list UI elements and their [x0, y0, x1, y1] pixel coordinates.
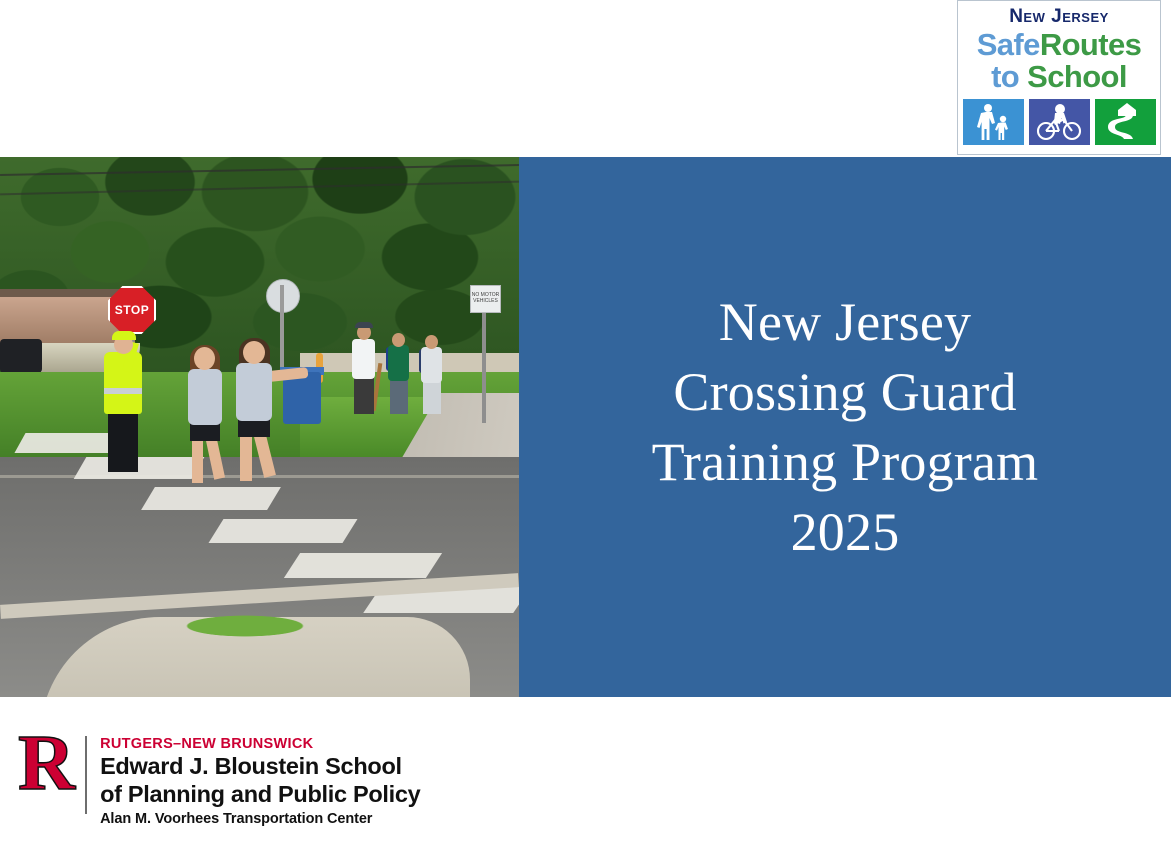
- crossing-guard-photo: NO MOTOR VEHICLES STOP: [0, 157, 519, 697]
- photo-guard-legs: [108, 412, 138, 472]
- photo-walker-2-body: [388, 345, 409, 381]
- logo-word-to: to: [991, 59, 1019, 94]
- content-band: NO MOTOR VEHICLES STOP: [0, 157, 1171, 697]
- rutgers-monogram: R: [18, 730, 73, 798]
- photo-walker-1-cap: [355, 322, 373, 328]
- page-title: New Jersey Crossing Guard Training Progr…: [626, 287, 1065, 568]
- crosswalk-stripe: [284, 553, 442, 578]
- photo-parked-vehicle: [0, 339, 42, 373]
- crosswalk-stripe: [74, 457, 205, 479]
- title-line-3: Training Program: [652, 432, 1039, 492]
- rutgers-wordmark: RUTGERS–NEW BRUNSWICK Edward J. Bloustei…: [100, 730, 420, 829]
- photo-student-2-leg-front: [240, 435, 252, 481]
- photo-walker-1-legs: [354, 378, 374, 414]
- logo-wordmark: SafeRoutes to School: [977, 29, 1142, 92]
- photo-walker-2-legs: [390, 380, 408, 414]
- photo-student-2-head: [243, 341, 265, 364]
- photo-walker-2-head: [392, 333, 405, 347]
- school-route-icon: [1095, 99, 1156, 145]
- title-line-1: New Jersey: [719, 292, 971, 352]
- rutgers-divider: [85, 736, 87, 814]
- no-motor-vehicles-label: NO MOTOR VEHICLES: [471, 293, 500, 305]
- rutgers-school-line-1: Edward J. Bloustein School: [100, 753, 420, 780]
- photo-student-1-leg-front: [192, 439, 203, 483]
- photo-walker-3-head: [425, 335, 438, 349]
- photo-no-motor-vehicles-sign: NO MOTOR VEHICLES: [470, 285, 501, 313]
- rutgers-logo: R RUTGERS–NEW BRUNSWICK Edward J. Bloust…: [18, 730, 420, 829]
- logo-word-safe: Safe: [977, 27, 1040, 62]
- title-line-4: 2025: [791, 502, 900, 562]
- title-line-2: Crossing Guard: [673, 362, 1016, 422]
- title-panel: New Jersey Crossing Guard Training Progr…: [519, 157, 1171, 697]
- photo-walker-1-body: [352, 339, 375, 379]
- bicycle-icon: [1029, 99, 1090, 145]
- photo-guard-vest: [104, 352, 142, 414]
- crosswalk-stripe: [209, 519, 358, 543]
- logo-word-school: School: [1027, 59, 1127, 94]
- safe-routes-to-school-logo: New Jersey SafeRoutes to School: [957, 0, 1161, 155]
- rutgers-center-line: Alan M. Voorhees Transportation Center: [100, 809, 420, 829]
- photo-student-1-shirt: [188, 369, 222, 425]
- rutgers-campus-line: RUTGERS–NEW BRUNSWICK: [100, 736, 420, 753]
- photo-walker-3-body: [421, 347, 442, 383]
- logo-icon-tiles: [963, 99, 1156, 145]
- photo-student-2-shirt: [236, 363, 272, 421]
- crosswalk-stripe: [141, 487, 281, 510]
- photo-weeds: [150, 609, 340, 643]
- rutgers-school-line-2: of Planning and Public Policy: [100, 781, 420, 808]
- stop-sign-icon: STOP: [108, 286, 156, 334]
- photo-student-1-head: [194, 347, 215, 370]
- logo-new-jersey-text: New Jersey: [1009, 7, 1109, 26]
- photo-guard-cap: [112, 331, 136, 340]
- pedestrian-icon: [963, 99, 1024, 145]
- photo-walker-3-legs: [423, 382, 441, 414]
- slide-page: New Jersey SafeRoutes to School: [0, 0, 1171, 855]
- photo-sign-post: [280, 285, 284, 380]
- photo-no-motor-vehicles-post: [482, 295, 486, 423]
- stop-sign-label: STOP: [115, 303, 149, 317]
- footer: R RUTGERS–NEW BRUNSWICK Edward J. Bloust…: [0, 697, 1171, 855]
- logo-word-routes: Routes: [1040, 27, 1141, 62]
